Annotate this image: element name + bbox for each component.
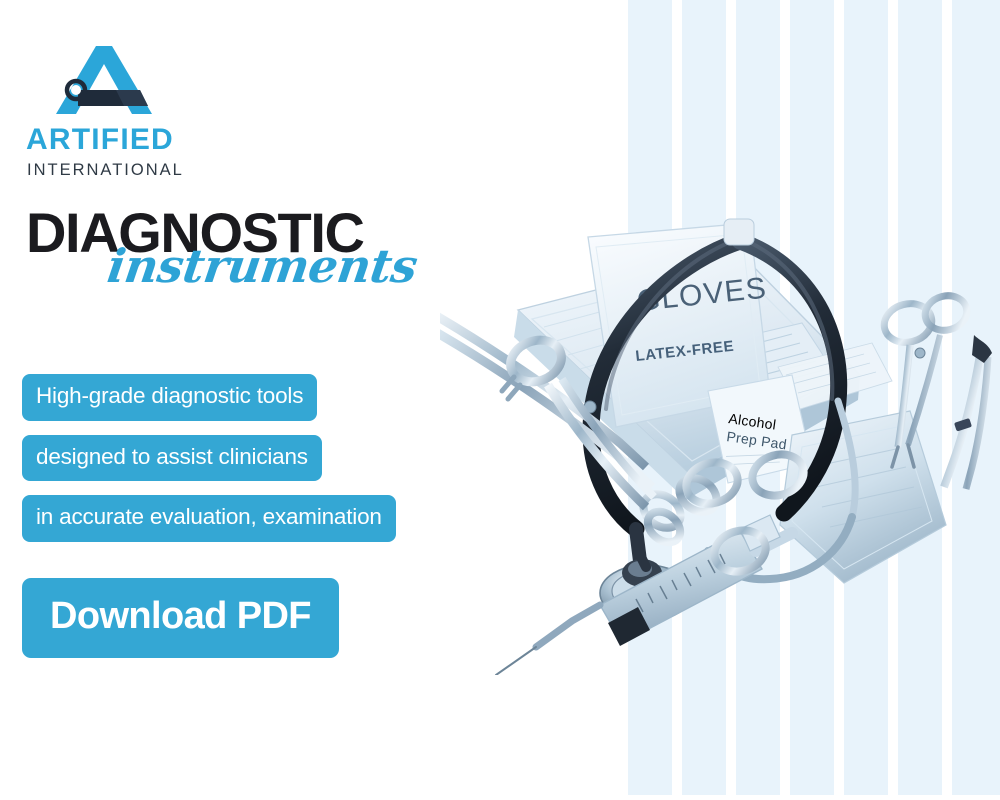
feature-bar-2: designed to assist clinicians — [22, 435, 322, 482]
download-pdf-button[interactable]: Download PDF — [22, 578, 339, 658]
brand-logo[interactable]: ARTIFIED INTERNATIONAL — [24, 44, 214, 179]
page-title: DIAGNOSTIC instruments — [24, 205, 454, 325]
artified-a-instrument-mark — [52, 44, 162, 116]
feature-bar-1: High-grade diagnostic tools — [22, 374, 317, 421]
feature-bar-3: in accurate evaluation, examination — [22, 495, 396, 542]
feature-list: High-grade diagnostic tools designed to … — [22, 374, 396, 556]
feature-row: designed to assist clinicians — [22, 435, 396, 482]
feature-row: in accurate evaluation, examination — [22, 495, 396, 542]
logo-subtitle: INTERNATIONAL — [27, 162, 214, 179]
poster-canvas: GLOVES LATEX-FREE Alcohol Prep Pad — [0, 0, 1000, 800]
headline-script: instruments — [105, 243, 420, 289]
tweezers — [944, 335, 992, 489]
feature-row: High-grade diagnostic tools — [22, 374, 396, 421]
medical-instruments-collage: GLOVES LATEX-FREE Alcohol Prep Pad — [440, 195, 1000, 675]
logo-wordmark: ARTIFIED — [26, 125, 214, 155]
